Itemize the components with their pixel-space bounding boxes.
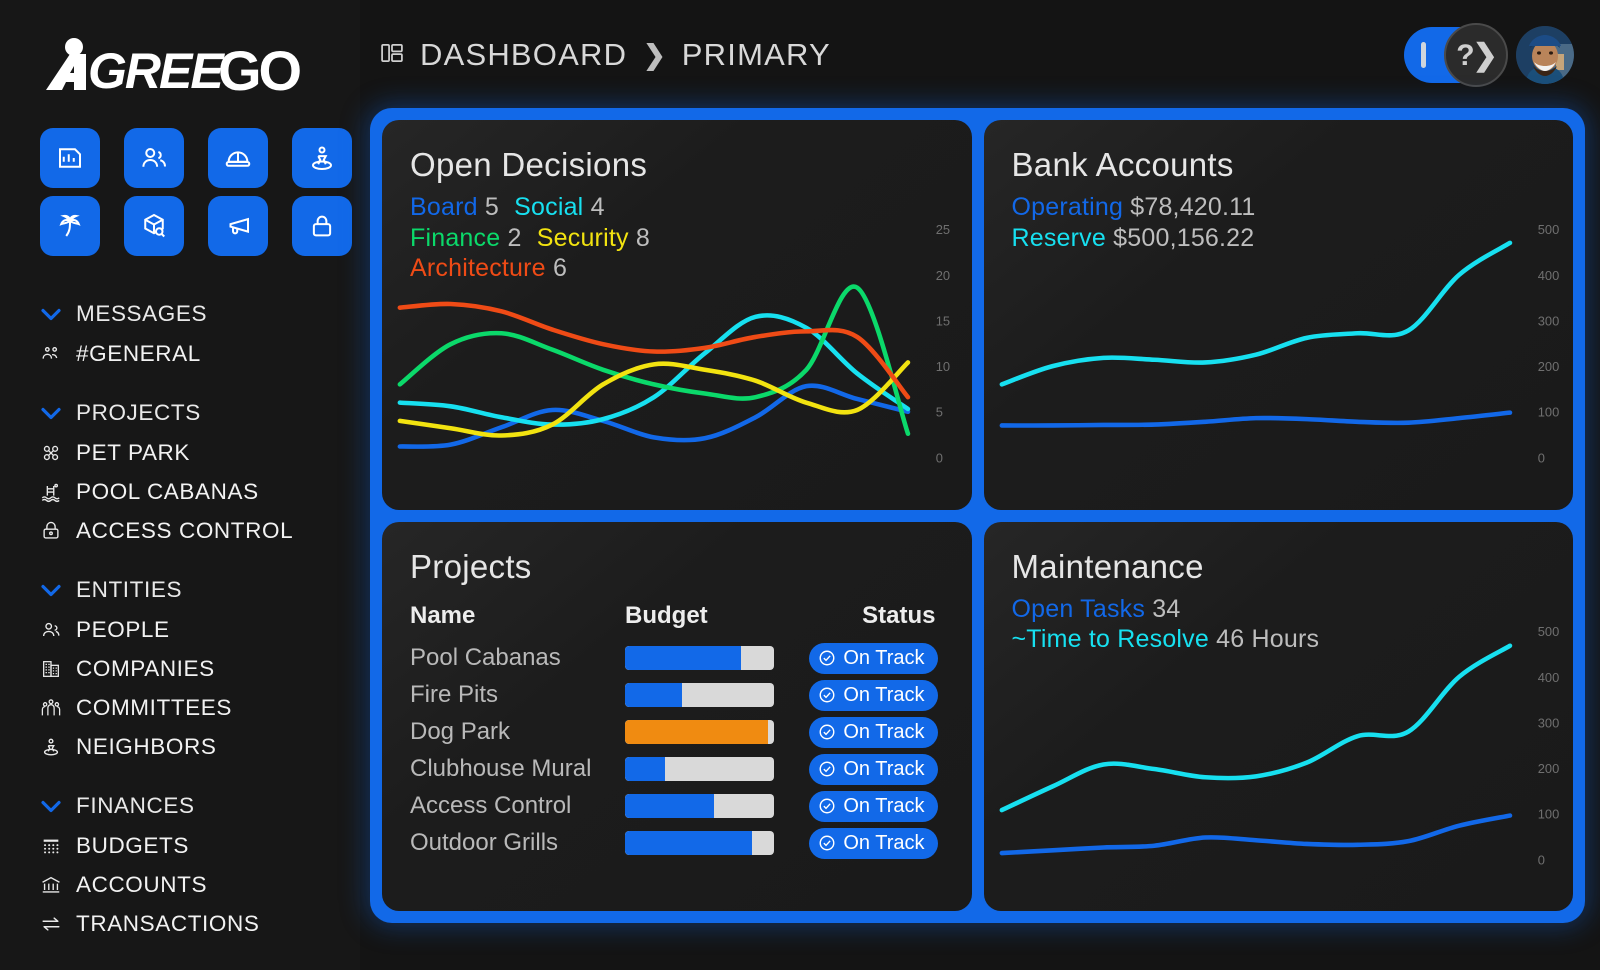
legend-label-social: Social — [514, 193, 583, 221]
chart-line-architecture — [400, 304, 908, 397]
budget-progress-bar — [625, 646, 774, 670]
neighbors-icon — [307, 143, 337, 173]
app-tile-announcements[interactable] — [208, 196, 268, 256]
nav-group-finances: FINANCES BUDGETS ACCOUNTS — [40, 786, 360, 943]
people-icon — [139, 143, 169, 173]
status-label: On Track — [843, 832, 924, 855]
nav-group-header-finances[interactable]: FINANCES — [40, 786, 360, 826]
budget-cell — [625, 794, 790, 818]
nav-group-messages: MESSAGES #GENERAL — [40, 294, 360, 373]
legend-value-social: 4 — [591, 193, 605, 221]
budget-progress-fill — [625, 720, 768, 744]
user-avatar-icon — [1516, 26, 1574, 84]
stat-row-open-tasks: Open Tasks 34 — [1012, 594, 1546, 625]
status-cell: On Track — [790, 754, 944, 785]
status-cell: On Track — [790, 643, 944, 674]
sidebar-item-pet-park[interactable]: PET PARK — [40, 433, 360, 472]
stat-label-operating: Operating — [1012, 193, 1124, 221]
column-header-status: Status — [790, 602, 944, 630]
sidebar-item-label: ACCOUNTS — [76, 872, 207, 898]
legend-value-finance: 2 — [508, 224, 522, 252]
svg-text:GREE: GREE — [88, 43, 225, 94]
y-axis-tick: 5 — [936, 405, 943, 420]
sidebar-item-committees[interactable]: COMMITTEES — [40, 688, 360, 727]
nav-group-header-projects[interactable]: PROJECTS — [40, 393, 360, 433]
status-badge[interactable]: On Track — [809, 791, 937, 822]
project-name: Clubhouse Mural — [410, 755, 625, 783]
sidebar-item-access-control[interactable]: ACCESS CONTROL — [40, 511, 360, 550]
budget-progress-fill — [625, 757, 665, 781]
column-header-budget: Budget — [625, 602, 790, 630]
sidebar-item-label: #GENERAL — [76, 341, 201, 367]
stat-row-reserve: Reserve $500,156.22 — [1012, 223, 1546, 254]
stat-row-time-to-resolve: ~Time to Resolve 46 Hours — [1012, 624, 1546, 655]
nav-group-header-entities[interactable]: ENTITIES — [40, 570, 360, 610]
breadcrumb-crumb-primary[interactable]: PRIMARY — [682, 37, 831, 73]
card-maintenance: Maintenance Open Tasks 34 ~Time to Resol… — [984, 522, 1574, 912]
project-name: Access Control — [410, 792, 625, 820]
sidebar-item-label: BUDGETS — [76, 833, 189, 859]
status-label: On Track — [843, 684, 924, 707]
y-axis-tick: 300 — [1537, 313, 1559, 328]
legend-label-security: Security — [537, 224, 629, 252]
building-icon — [40, 658, 62, 680]
app-tile-neighbors[interactable] — [292, 128, 352, 188]
bank-accounts-stats: Operating $78,420.11 Reserve $500,156.22 — [1012, 192, 1546, 253]
y-axis-tick: 0 — [936, 450, 943, 465]
budget-cell — [625, 720, 790, 744]
sidebar-item-label: POOL CABANAS — [76, 479, 259, 505]
y-axis-tick: 300 — [1537, 715, 1559, 730]
group-chat-icon — [40, 343, 62, 365]
transfer-arrows-icon — [40, 913, 62, 935]
sidebar-item-budgets[interactable]: BUDGETS — [40, 826, 360, 865]
budget-progress-bar — [625, 683, 774, 707]
nav-group-label: ENTITIES — [76, 577, 182, 603]
y-axis-tick: 0 — [1537, 450, 1544, 465]
status-badge[interactable]: On Track — [809, 754, 937, 785]
sidebar-item-label: PEOPLE — [76, 617, 170, 643]
status-badge[interactable]: On Track — [809, 643, 937, 674]
budget-progress-bar — [625, 757, 774, 781]
budget-cell — [625, 646, 790, 670]
check-circle-icon — [818, 834, 836, 852]
budget-progress-fill — [625, 831, 752, 855]
legend-label-finance: Finance — [410, 224, 500, 252]
palm-tree-icon — [55, 211, 85, 241]
main-area: DASHBOARD ❯ PRIMARY ?❯ — [360, 0, 1600, 970]
sidebar-item-pool-cabanas[interactable]: POOL CABANAS — [40, 472, 360, 511]
stat-label-reserve: Reserve — [1012, 224, 1107, 252]
legend-label-board: Board — [410, 193, 478, 221]
chart-line-open-tasks — [1001, 815, 1509, 853]
legend-row: Finance 2 Security 8 — [410, 223, 944, 254]
card-open-decisions: Open Decisions Board 5 Social 4 Finance … — [382, 120, 972, 510]
legend-row: Architecture 6 — [410, 253, 944, 284]
status-cell: On Track — [790, 828, 944, 859]
card-title: Maintenance — [1012, 548, 1546, 586]
stat-label-time-to-resolve: ~Time to Resolve — [1012, 625, 1210, 653]
y-axis-tick: 400 — [1537, 669, 1559, 684]
breadcrumb-separator-icon: ❯ — [643, 40, 666, 71]
chart-line-social — [400, 315, 908, 424]
status-cell: On Track — [790, 791, 944, 822]
status-badge[interactable]: On Track — [809, 828, 937, 859]
sidebar-item-accounts[interactable]: ACCOUNTS — [40, 865, 360, 904]
app-tile-projects[interactable] — [208, 128, 268, 188]
y-axis-tick: 200 — [1537, 359, 1559, 374]
sidebar-item-label: NEIGHBORS — [76, 734, 216, 760]
table-row[interactable]: Pool CabanasOn Track — [410, 640, 944, 677]
dashboard-grid: Open Decisions Board 5 Social 4 Finance … — [370, 108, 1585, 923]
project-name: Dog Park — [410, 718, 625, 746]
check-circle-icon — [818, 797, 836, 815]
top-bar: DASHBOARD ❯ PRIMARY ?❯ — [360, 0, 1600, 110]
budget-progress-bar — [625, 831, 774, 855]
sidebar-item-companies[interactable]: COMPANIES — [40, 649, 360, 688]
sidebar-nav: MESSAGES #GENERAL PROJECTS — [0, 256, 360, 943]
stat-value-reserve: $500,156.22 — [1113, 224, 1254, 252]
budget-cell — [625, 831, 790, 855]
status-badge[interactable]: On Track — [809, 717, 937, 748]
svg-text:GO: GO — [218, 39, 301, 94]
legend-label-architecture: Architecture — [410, 254, 546, 282]
app-tile-access[interactable] — [292, 196, 352, 256]
pool-icon — [40, 481, 62, 503]
table-row[interactable]: Access ControlOn Track — [410, 788, 944, 825]
status-cell: On Track — [790, 680, 944, 711]
nav-group-label: PROJECTS — [76, 400, 201, 426]
chevron-down-icon — [40, 584, 62, 597]
status-label: On Track — [843, 795, 924, 818]
reports-icon — [55, 143, 85, 173]
nav-group-projects: PROJECTS PET PARK POOL CABANAS — [40, 393, 360, 550]
app-tile-reports[interactable] — [40, 128, 100, 188]
y-axis-tick: 400 — [1537, 268, 1559, 283]
budget-cell — [625, 757, 790, 781]
status-label: On Track — [843, 647, 924, 670]
stat-value-open-tasks: 34 — [1152, 595, 1180, 623]
table-header-row: Name Budget Status — [410, 602, 944, 630]
y-axis-tick: 15 — [936, 313, 950, 328]
stat-value-operating: $78,420.11 — [1130, 193, 1255, 221]
sidebar-item-label: TRANSACTIONS — [76, 911, 259, 937]
budget-progress-fill — [625, 794, 714, 818]
status-label: On Track — [843, 758, 924, 781]
brand-logo[interactable]: GREE GO — [0, 28, 360, 106]
toggle-bar-icon — [1421, 42, 1426, 68]
open-decisions-legend: Board 5 Social 4 Finance 2 Security 8 Ar… — [410, 192, 944, 284]
sidebar: GREE GO — [0, 0, 360, 970]
chart-line-finance — [400, 287, 908, 434]
project-name: Fire Pits — [410, 681, 625, 709]
chevron-down-icon — [40, 407, 62, 420]
card-title: Bank Accounts — [1012, 146, 1546, 184]
card-title: Open Decisions — [410, 146, 944, 184]
sidebar-item-people[interactable]: PEOPLE — [40, 610, 360, 649]
sidebar-item-general[interactable]: #GENERAL — [40, 334, 360, 373]
column-header-name: Name — [410, 602, 625, 630]
help-toggle[interactable]: ?❯ — [1404, 27, 1502, 83]
legend-value-architecture: 6 — [553, 254, 567, 282]
breadcrumb: DASHBOARD ❯ PRIMARY — [378, 37, 831, 73]
top-bar-actions: ?❯ — [1404, 26, 1574, 84]
check-circle-icon — [818, 723, 836, 741]
chevron-down-icon — [40, 800, 62, 813]
nav-group-entities: ENTITIES PEOPLE COMPANIES — [40, 570, 360, 766]
status-badge[interactable]: On Track — [809, 680, 937, 711]
bank-icon — [40, 874, 62, 896]
chart-line-board — [400, 386, 908, 447]
legend-row: Board 5 Social 4 — [410, 192, 944, 223]
hard-hat-icon — [223, 143, 253, 173]
maintenance-stats: Open Tasks 34 ~Time to Resolve 46 Hours — [1012, 594, 1546, 655]
budget-progress-bar — [625, 794, 774, 818]
help-chevron-icon[interactable]: ?❯ — [1444, 23, 1508, 87]
sidebar-item-label: COMPANIES — [76, 656, 215, 682]
package-search-icon — [139, 211, 169, 241]
table-row[interactable]: Fire PitsOn Track — [410, 677, 944, 714]
check-circle-icon — [818, 760, 836, 778]
chart-line-time-to-resolve — [1001, 645, 1509, 809]
check-circle-icon — [818, 649, 836, 667]
stat-row-operating: Operating $78,420.11 — [1012, 192, 1546, 223]
y-axis-tick: 0 — [1537, 852, 1544, 867]
app-tile-amenities[interactable] — [40, 196, 100, 256]
group-people-icon — [40, 697, 62, 719]
grid-dots-icon — [40, 835, 62, 857]
sidebar-item-transactions[interactable]: TRANSACTIONS — [40, 904, 360, 943]
chart-line-operating — [1001, 413, 1509, 426]
status-label: On Track — [843, 721, 924, 744]
chevron-down-icon — [40, 308, 62, 321]
budget-progress-fill — [625, 646, 741, 670]
table-row[interactable]: Outdoor GrillsOn Track — [410, 825, 944, 862]
breadcrumb-crumb-dashboard[interactable]: DASHBOARD — [420, 37, 627, 73]
chart-line-reserve — [1001, 243, 1509, 385]
status-cell: On Track — [790, 717, 944, 748]
budget-progress-bar — [625, 720, 774, 744]
chart-line-security — [400, 362, 908, 435]
sidebar-item-label: PET PARK — [76, 440, 190, 466]
nav-group-label: FINANCES — [76, 793, 195, 819]
sidebar-item-label: COMMITTEES — [76, 695, 232, 721]
person-icon — [40, 619, 62, 641]
lock-icon — [307, 211, 337, 241]
y-axis-tick: 100 — [1537, 405, 1559, 420]
megaphone-icon — [223, 211, 253, 241]
app-root: GREE GO — [0, 0, 1600, 970]
y-axis-tick: 100 — [1537, 806, 1559, 821]
dashboard-layout-icon — [378, 39, 406, 72]
table-row[interactable]: Dog ParkOn Track — [410, 714, 944, 751]
y-axis-tick: 200 — [1537, 761, 1559, 776]
paw-icon — [40, 442, 62, 464]
budget-cell — [625, 683, 790, 707]
legend-value-board: 5 — [485, 193, 499, 221]
nav-group-label: MESSAGES — [76, 301, 207, 327]
sidebar-item-label: ACCESS CONTROL — [76, 518, 293, 544]
budget-progress-fill — [625, 683, 682, 707]
padlock-icon — [40, 520, 62, 542]
card-bank-accounts: Bank Accounts Operating $78,420.11 Reser… — [984, 120, 1574, 510]
card-projects: Projects Name Budget Status Pool Cabanas… — [382, 522, 972, 912]
app-tile-packages[interactable] — [124, 196, 184, 256]
app-tile-people[interactable] — [124, 128, 184, 188]
card-title: Projects — [410, 548, 944, 586]
projects-table: Name Budget Status Pool CabanasOn TrackF… — [410, 602, 944, 862]
agreego-logo-icon: GREE GO — [40, 38, 330, 94]
check-circle-icon — [818, 686, 836, 704]
nav-group-header-messages[interactable]: MESSAGES — [40, 294, 360, 334]
neighbor-icon — [40, 736, 62, 758]
project-name: Outdoor Grills — [410, 829, 625, 857]
app-tile-grid — [0, 106, 360, 256]
sidebar-item-neighbors[interactable]: NEIGHBORS — [40, 727, 360, 766]
stat-value-time-to-resolve: 46 Hours — [1216, 625, 1319, 653]
legend-value-security: 8 — [636, 224, 650, 252]
projects-rows: Pool CabanasOn TrackFire PitsOn TrackDog… — [410, 640, 944, 862]
project-name: Pool Cabanas — [410, 644, 625, 672]
y-axis-tick: 10 — [936, 359, 950, 374]
avatar[interactable] — [1516, 26, 1574, 84]
stat-label-open-tasks: Open Tasks — [1012, 595, 1146, 623]
table-row[interactable]: Clubhouse MuralOn Track — [410, 751, 944, 788]
